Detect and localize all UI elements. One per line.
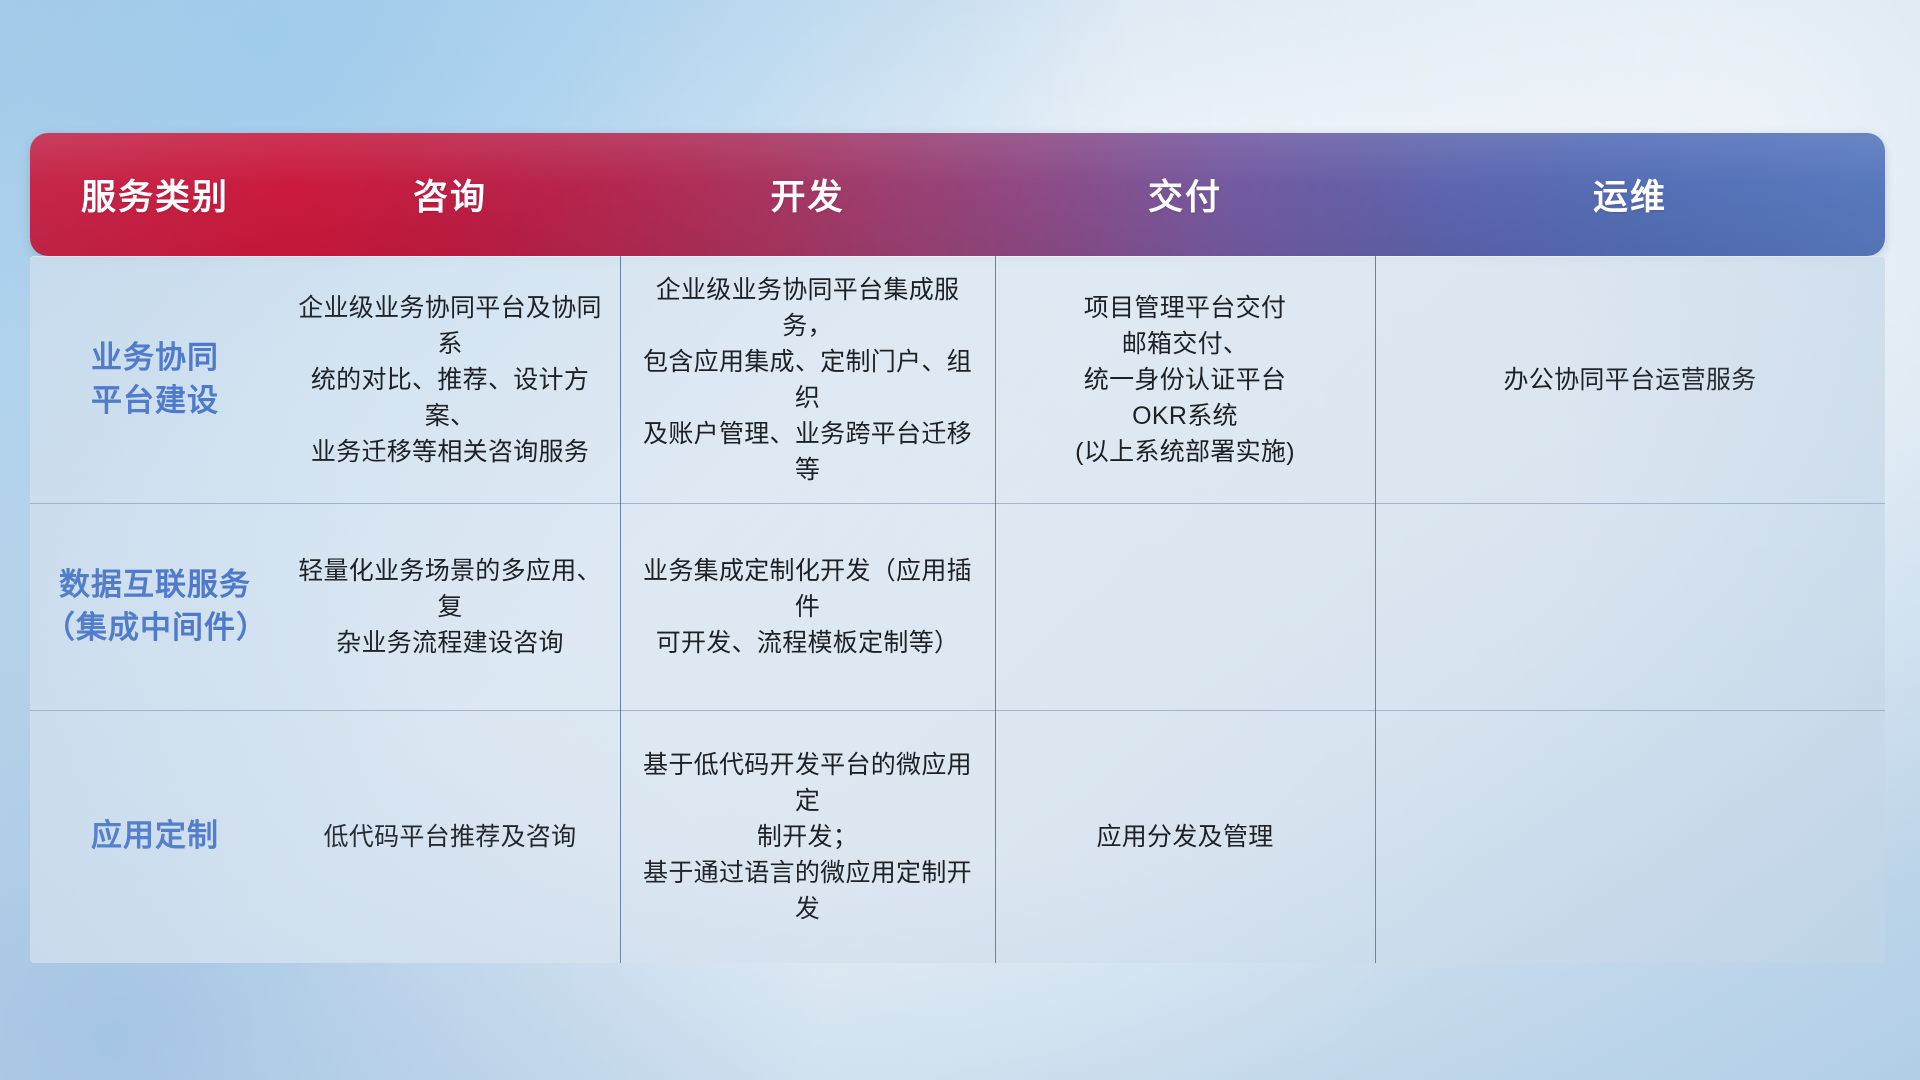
cell-development: 业务集成定制化开发（应用插件 可开发、流程模板定制等） [620,503,995,710]
row-label-text: 业务协同 平台建设 [91,337,219,421]
cell-development-text: 企业级业务协同平台集成服务， 包含应用集成、定制门户、组织 及账户管理、业务跨平… [634,272,981,488]
cell-consulting: 轻量化业务场景的多应用、复 杂业务流程建设咨询 [280,503,620,710]
column-header-consulting: 咨询 [280,133,620,256]
cell-consulting-text: 企业级业务协同平台及协同系 统的对比、推荐、设计方案、 业务迁移等相关咨询服务 [294,290,606,470]
table-row: 数据互联服务 （集成中间件） 轻量化业务场景的多应用、复 杂业务流程建设咨询 业… [30,503,1885,710]
cell-development-text: 业务集成定制化开发（应用插件 可开发、流程模板定制等） [634,553,981,661]
cell-consulting-text: 轻量化业务场景的多应用、复 杂业务流程建设咨询 [294,553,606,661]
row-label-text: 应用定制 [91,815,219,857]
row-label-cell: 业务协同 平台建设 [30,256,280,503]
cell-delivery [995,503,1375,710]
cell-consulting-text: 低代码平台推荐及咨询 [323,819,576,855]
cell-operations [1375,710,1885,963]
cell-operations-text: 办公协同平台运营服务 [1503,362,1756,398]
column-header-delivery-label: 交付 [1148,169,1222,220]
column-header-category-label: 服务类别 [81,169,229,220]
cell-delivery: 项目管理平台交付 邮箱交付、 统一身份认证平台 OKR系统 (以上系统部署实施) [995,256,1375,503]
row-label-text: 数据互联服务 （集成中间件） [44,564,266,648]
column-header-operations: 运维 [1375,133,1885,256]
column-header-delivery: 交付 [995,133,1375,256]
slide-canvas: 服务类别 咨询 开发 交付 运维 业务协同 平台建设 [0,0,1920,1080]
row-label-cell: 数据互联服务 （集成中间件） [30,503,280,710]
cell-operations [1375,503,1885,710]
cell-delivery-text: 项目管理平台交付 邮箱交付、 统一身份认证平台 OKR系统 (以上系统部署实施) [1075,290,1295,470]
cell-delivery: 应用分发及管理 [995,710,1375,963]
service-matrix-table: 服务类别 咨询 开发 交付 运维 业务协同 平台建设 [30,133,1885,963]
column-header-development-label: 开发 [770,169,844,220]
column-header-consulting-label: 咨询 [413,169,487,220]
cell-operations: 办公协同平台运营服务 [1375,256,1885,503]
cell-development: 基于低代码开发平台的微应用定 制开发； 基于通过语言的微应用定制开发 [620,710,995,963]
table-header-row: 服务类别 咨询 开发 交付 运维 [30,133,1885,256]
cell-consulting: 企业级业务协同平台及协同系 统的对比、推荐、设计方案、 业务迁移等相关咨询服务 [280,256,620,503]
column-header-category: 服务类别 [30,133,280,256]
cell-development: 企业级业务协同平台集成服务， 包含应用集成、定制门户、组织 及账户管理、业务跨平… [620,256,995,503]
cell-development-text: 基于低代码开发平台的微应用定 制开发； 基于通过语言的微应用定制开发 [634,747,981,927]
table-row: 应用定制 低代码平台推荐及咨询 基于低代码开发平台的微应用定 制开发； 基于通过… [30,710,1885,963]
cell-consulting: 低代码平台推荐及咨询 [280,710,620,963]
row-label-cell: 应用定制 [30,710,280,963]
table-row: 业务协同 平台建设 企业级业务协同平台及协同系 统的对比、推荐、设计方案、 业务… [30,256,1885,503]
table-body: 业务协同 平台建设 企业级业务协同平台及协同系 统的对比、推荐、设计方案、 业务… [30,256,1885,963]
cell-delivery-text: 应用分发及管理 [1096,819,1273,855]
column-header-operations-label: 运维 [1593,169,1667,220]
column-header-development: 开发 [620,133,995,256]
